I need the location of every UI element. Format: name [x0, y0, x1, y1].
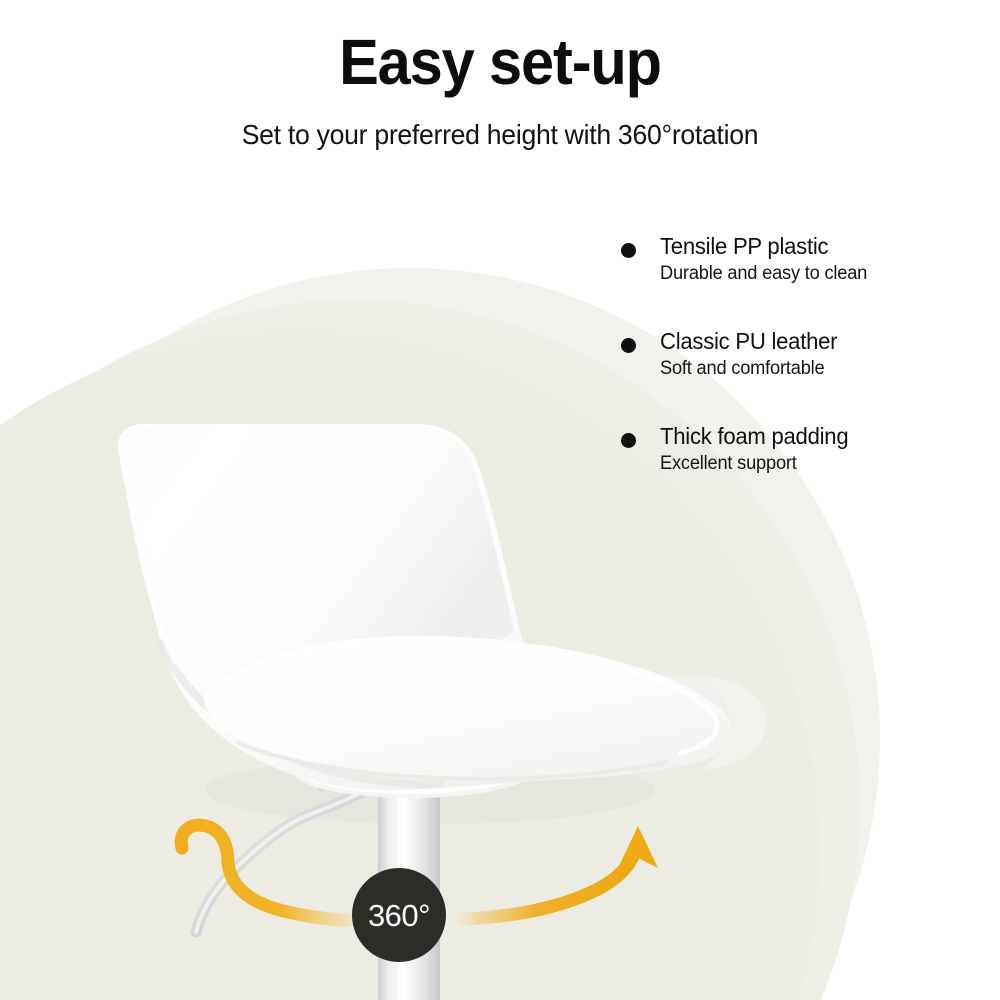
feature-item-thick-foam-padding: Thick foam padding Excellent support [618, 422, 978, 476]
bullet-dot-icon [621, 433, 636, 448]
rotation-arrow-right-icon [452, 826, 658, 919]
rotation-badge: 360° [352, 868, 446, 962]
feature-subtitle: Soft and comfortable [660, 356, 965, 381]
feature-title: Thick foam padding [660, 422, 965, 450]
pu-cushion [204, 636, 733, 781]
feature-title: Classic PU leather [660, 327, 965, 355]
feature-item-tensile-pp-plastic: Tensile PP plastic Durable and easy to c… [618, 232, 978, 286]
feature-item-classic-pu-leather: Classic PU leather Soft and comfortable [618, 327, 978, 381]
feature-title: Tensile PP plastic [660, 232, 965, 260]
bullet-dot-icon [621, 338, 636, 353]
feature-subtitle: Excellent support [660, 451, 965, 476]
feature-subtitle: Durable and easy to clean [660, 261, 965, 286]
product-feature-image: Easy set-up Set to your preferred height… [0, 0, 1000, 1000]
rotation-badge-label: 360° [368, 900, 430, 931]
page-title: Easy set-up [35, 27, 965, 97]
bullet-dot-icon [621, 243, 636, 258]
feature-list: Tensile PP plastic Durable and easy to c… [618, 232, 978, 476]
page-subtitle: Set to your preferred height with 360°ro… [25, 118, 975, 152]
